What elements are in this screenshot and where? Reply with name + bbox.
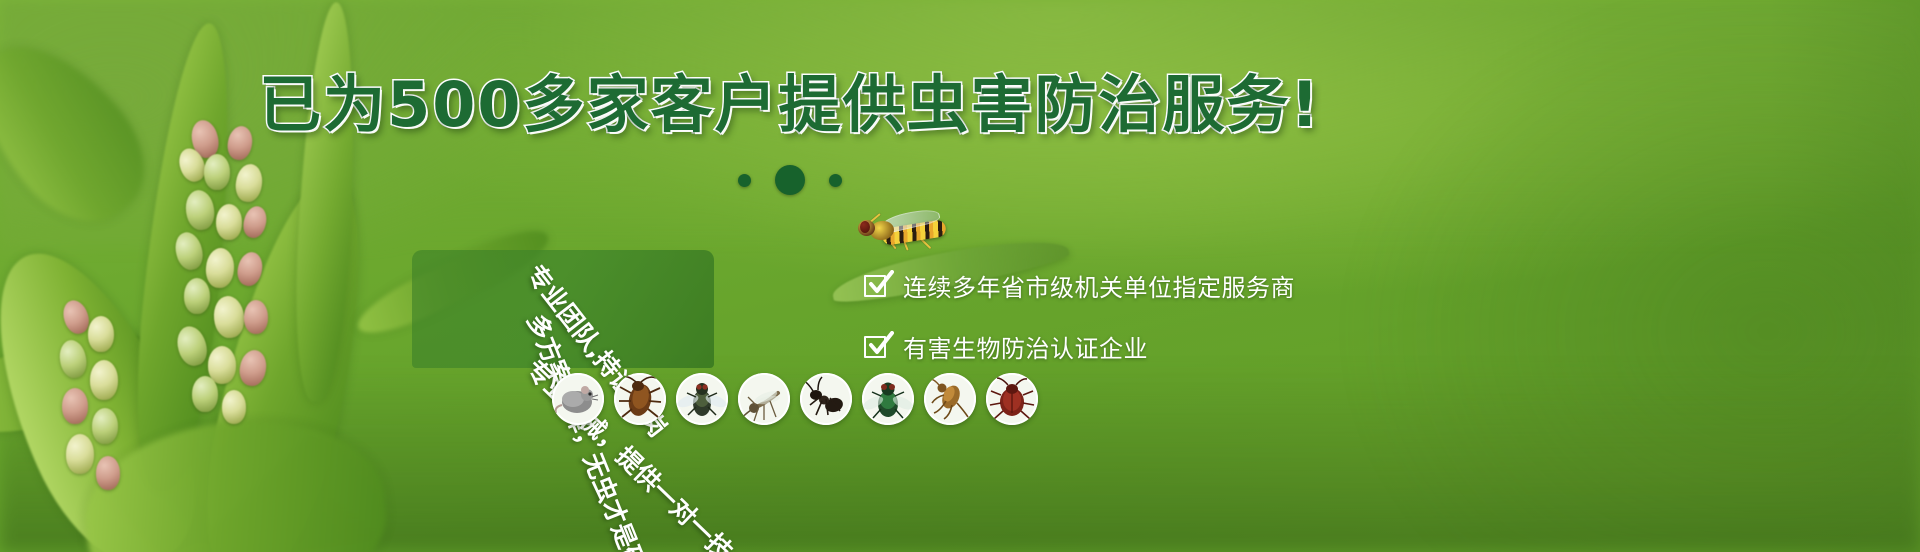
banner-headline: 已为500多家客户提供虫害防治服务! (0, 74, 1580, 136)
hoverfly-illustration (852, 206, 962, 262)
checkbox-checked-icon (864, 334, 889, 359)
flea-icon[interactable] (924, 373, 976, 425)
decorative-dots (700, 160, 880, 200)
flower-spike (178, 120, 298, 420)
mosquito-icon[interactable] (738, 373, 790, 425)
decorative-dot-small (738, 174, 751, 187)
slogan-text-group: 专业团队,持证上岗 多方案选择，无虫才是硬道理 专业药械，提供一对一技术指导 (340, 258, 740, 390)
decorative-dot-large (775, 165, 805, 195)
mouse-icon[interactable] (552, 373, 604, 425)
housefly-icon[interactable] (676, 373, 728, 425)
slogan-line-2: 多方案选择，无虫才是硬道理 (520, 308, 561, 340)
decorative-dot-small (829, 174, 842, 187)
flower-spike (58, 300, 148, 500)
blowfly-icon[interactable] (862, 373, 914, 425)
pest-icon-row (552, 373, 1038, 425)
feature-list: 连续多年省市级机关单位指定服务商 有害生物防治认证企业 (864, 268, 1295, 364)
feature-item: 有害生物防治认证企业 (864, 329, 1295, 364)
bedbug-icon[interactable] (986, 373, 1038, 425)
banner-headline-text: 已为500多家客户提供虫害防治服务! (259, 68, 1321, 141)
cockroach-icon[interactable] (614, 373, 666, 425)
checkbox-checked-icon (864, 273, 889, 298)
pest-control-hero-banner: 已为500多家客户提供虫害防治服务! 专业团队,持证上岗 多方案选择，无虫才是硬… (0, 0, 1920, 552)
feature-label: 有害生物防治认证企业 (903, 329, 1148, 364)
feature-item: 连续多年省市级机关单位指定服务商 (864, 268, 1295, 303)
ant-icon[interactable] (800, 373, 852, 425)
slogan-line-1: 专业团队,持证上岗 (519, 256, 561, 296)
feature-label: 连续多年省市级机关单位指定服务商 (903, 268, 1295, 303)
